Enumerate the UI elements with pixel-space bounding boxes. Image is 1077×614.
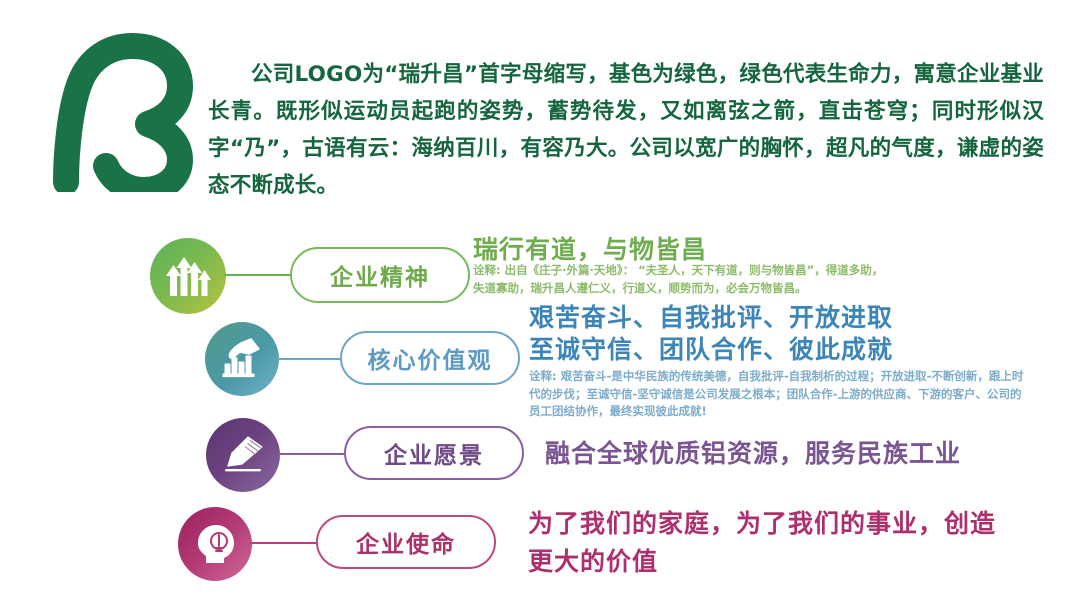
headline-core-values: 艰苦奋斗、自我批评、开放进取 至诚守信、团队合作、彼此成就 xyxy=(529,302,893,366)
icon-circle-mission xyxy=(178,507,252,581)
badge-label-mission: 企业使命 xyxy=(356,525,456,559)
headline-vision: 融合全球优质铝资源，服务民族工业 xyxy=(545,434,961,470)
badge-label-core-values: 核心价值观 xyxy=(368,341,493,375)
logo-description-paragraph: 公司LOGO为“瑞升昌”首字母缩写，基色为绿色，绿色代表生命力，寓意企业基业长青… xyxy=(208,56,1044,204)
badge-spirit[interactable]: 企业精神 xyxy=(290,247,470,303)
headline-spirit: 瑞行有道，与物皆昌 xyxy=(473,230,707,266)
icon-circle-core-values xyxy=(205,322,279,396)
icon-circle-spirit xyxy=(150,238,226,314)
connector-line-mission xyxy=(250,542,316,544)
badge-mission[interactable]: 企业使命 xyxy=(316,515,496,569)
connector-line-spirit xyxy=(224,274,294,276)
hand-bar-chart-icon xyxy=(219,337,265,381)
note-core-values: 诠释: 艰苦奋斗-是中华民族的传统美德，自我批评-自我制析的过程；开放进取-不断… xyxy=(529,368,1029,421)
head-lightbulb-icon xyxy=(192,522,238,566)
headline-mission: 为了我们的家庭，为了我们的事业，创造 更大的价值 xyxy=(528,505,996,581)
pencil-icon xyxy=(220,434,266,476)
badge-core-values[interactable]: 核心价值观 xyxy=(340,331,520,385)
badge-label-vision: 企业愿景 xyxy=(384,436,484,470)
connector-line-core-values xyxy=(277,358,343,360)
badge-label-spirit: 企业精神 xyxy=(330,258,430,292)
growth-arrows-icon xyxy=(165,254,211,298)
connector-line-vision xyxy=(278,453,344,455)
poster-canvas: 公司LOGO为“瑞升昌”首字母缩写，基色为绿色，绿色代表生命力，寓意企业基业长青… xyxy=(0,0,1077,614)
icon-circle-vision xyxy=(206,418,280,492)
badge-vision[interactable]: 企业愿景 xyxy=(344,426,524,480)
company-logo xyxy=(48,32,198,192)
note-spirit: 诠释: 出自《庄子·外篇·天地》： “夫圣人，天下有道，则与物皆昌”，得道多助，… xyxy=(473,262,893,297)
